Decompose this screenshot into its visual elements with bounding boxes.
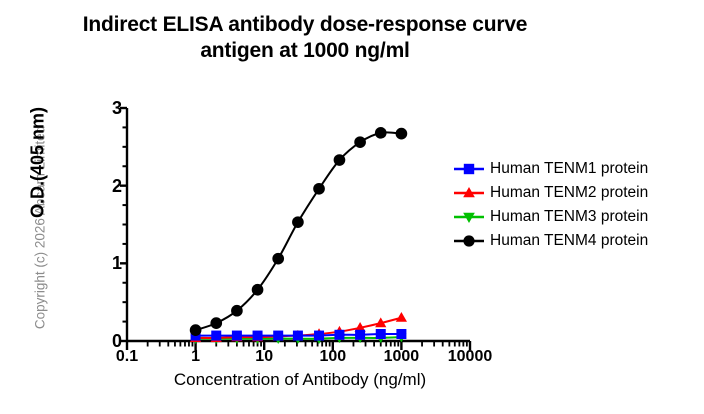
y-tick-label: 1 (98, 254, 122, 272)
legend-marker-triangle-down-icon (452, 207, 486, 227)
data-point-marker (232, 331, 242, 341)
legend-label: Human TENM3 protein (486, 208, 648, 226)
data-point-marker (314, 331, 324, 341)
legend-row[interactable]: Human TENM2 protein (452, 181, 702, 205)
x-tick-label: 0.1 (116, 348, 138, 366)
legend-marker-square-icon (452, 159, 486, 179)
data-point-marker (334, 330, 344, 340)
legend-row[interactable]: Human TENM3 protein (452, 205, 702, 229)
data-point-marker (253, 331, 263, 341)
data-point-marker (354, 136, 366, 148)
legend-key-marker (463, 235, 474, 246)
x-tick-label: 1000 (384, 348, 420, 366)
legend-marker-triangle-up-icon (452, 183, 486, 203)
legend-row[interactable]: Human TENM1 protein (452, 157, 702, 181)
data-point-marker (396, 312, 407, 322)
legend-label: Human TENM4 protein (486, 232, 648, 250)
x-tick-label: 10 (255, 348, 273, 366)
x-tick-label: 100 (319, 348, 346, 366)
chart-legend: Human TENM1 proteinHuman TENM2 proteinHu… (452, 157, 702, 253)
plot-area (127, 108, 470, 341)
data-point-marker (211, 331, 221, 341)
data-point-marker (252, 284, 264, 296)
data-point-marker (272, 253, 284, 265)
x-axis-title: Concentration of Antibody (ng/ml) (100, 370, 500, 390)
data-point-marker (293, 331, 303, 341)
plot-svg (127, 108, 470, 341)
series-human-tenm4-protein (190, 127, 407, 336)
y-tick-label: 3 (98, 99, 122, 117)
data-point-marker (313, 183, 325, 195)
legend-marker-circle-icon (452, 231, 486, 251)
data-point-marker (231, 305, 243, 317)
y-tick-label: 2 (98, 177, 122, 195)
legend-key-marker (464, 164, 474, 174)
series-line (196, 132, 402, 330)
data-point-marker (396, 128, 408, 140)
legend-label: Human TENM1 protein (486, 160, 648, 178)
data-point-marker (334, 154, 346, 166)
legend-label: Human TENM2 protein (486, 184, 648, 202)
data-point-marker (273, 331, 283, 341)
data-point-marker (355, 330, 365, 340)
data-point-marker (375, 127, 387, 139)
x-tick-label: 10000 (448, 348, 493, 366)
data-point-marker (210, 317, 222, 329)
x-tick-label: 1 (191, 348, 200, 366)
data-point-marker (396, 329, 406, 339)
data-point-marker (376, 329, 386, 339)
legend-row[interactable]: Human TENM4 protein (452, 229, 702, 253)
data-point-marker (292, 216, 304, 228)
chart-figure: Indirect ELISA antibody dose-response cu… (0, 0, 704, 414)
data-point-marker (190, 324, 202, 336)
y-axis-title: O.D.(405 nm) (28, 83, 49, 243)
